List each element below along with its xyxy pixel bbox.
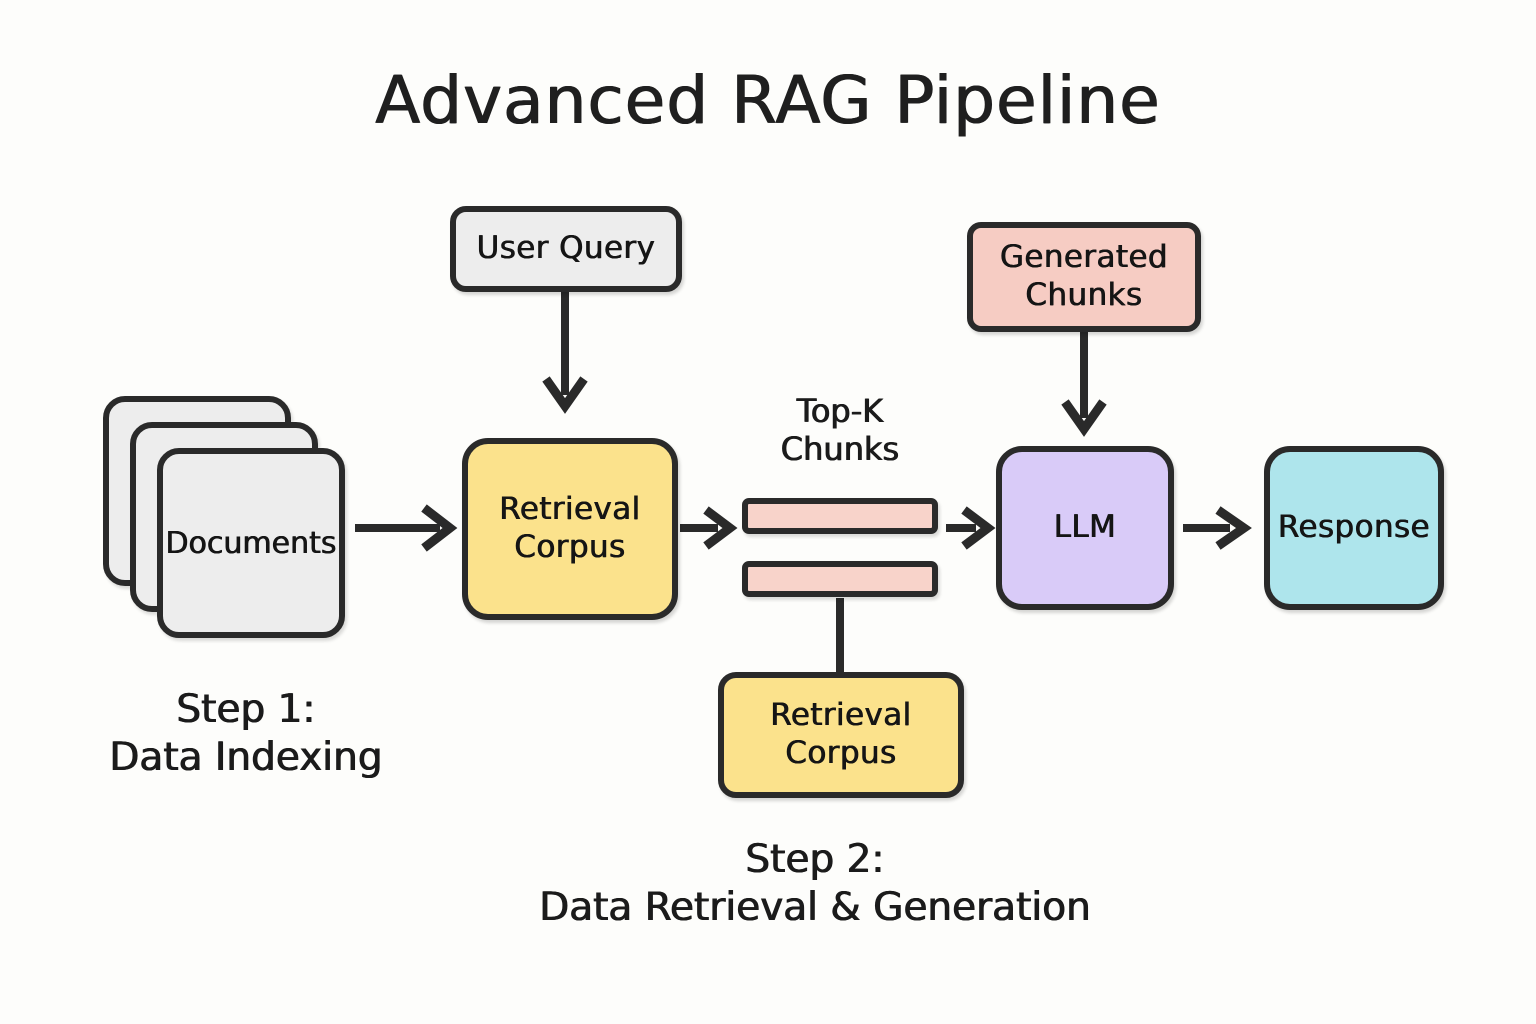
edge-documents-to-retrieval-corpus: [355, 508, 450, 548]
topk-chunks-label: Top-K Chunks: [724, 392, 956, 469]
node-user-query-label: User Query: [469, 230, 664, 268]
node-retrieval-corpus-1[interactable]: Retrieval Corpus: [462, 438, 678, 620]
page-title: Advanced RAG Pipeline: [0, 62, 1536, 139]
node-response-label: Response: [1270, 509, 1438, 547]
edge-generated-chunks-to-llm: [1065, 332, 1103, 429]
edge-user-query-to-retrieval-corpus: [546, 290, 584, 406]
edge-llm-to-response: [1183, 510, 1244, 546]
node-documents-label: Documents: [165, 526, 336, 561]
node-documents[interactable]: Documents: [157, 448, 345, 638]
diagram-canvas: Advanced RAG Pipeline: [0, 0, 1536, 1024]
edge-chunks-to-llm: [946, 510, 988, 546]
step2-caption: Step 2: Data Retrieval & Generation: [480, 836, 1150, 931]
step1-caption: Step 1: Data Indexing: [60, 686, 432, 781]
node-user-query[interactable]: User Query: [450, 206, 682, 292]
node-retrieval-corpus-2-label: Retrieval Corpus: [762, 697, 919, 773]
node-llm[interactable]: LLM: [996, 446, 1174, 610]
node-generated-chunks[interactable]: Generated Chunks: [967, 222, 1201, 332]
node-generated-chunks-label: Generated Chunks: [992, 239, 1176, 315]
node-chunk-bar-top[interactable]: [742, 498, 938, 534]
edge-retrieval-corpus-to-chunks: [680, 510, 730, 546]
node-retrieval-corpus-2[interactable]: Retrieval Corpus: [718, 672, 964, 798]
node-response[interactable]: Response: [1264, 446, 1444, 610]
node-retrieval-corpus-1-label: Retrieval Corpus: [491, 491, 648, 567]
node-chunk-bar-bottom[interactable]: [742, 561, 938, 597]
node-llm-label: LLM: [1046, 509, 1125, 547]
